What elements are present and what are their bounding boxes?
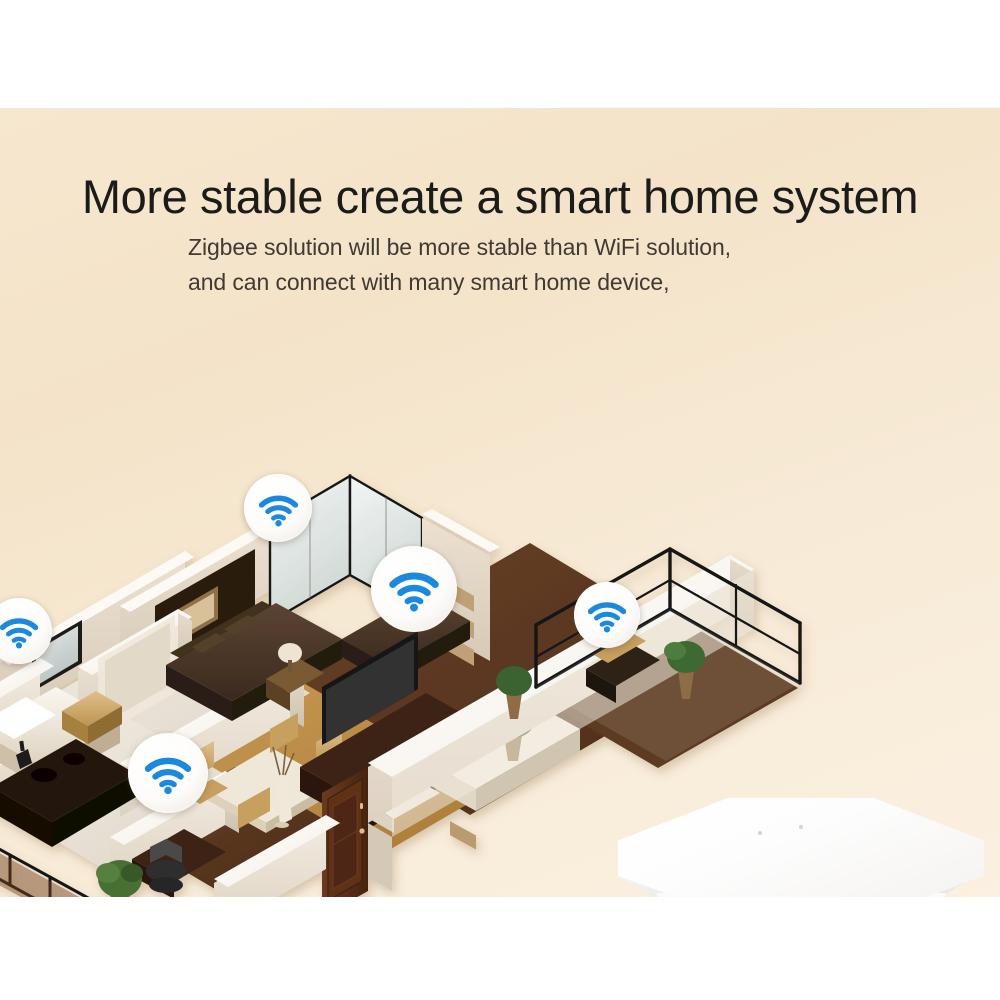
beige-banner-background: More stable create a smart home system Z… bbox=[0, 108, 1000, 897]
hub-top-face bbox=[618, 798, 984, 897]
product-banner-image: More stable create a smart home system Z… bbox=[0, 0, 1000, 1000]
page-title: More stable create a smart home system bbox=[0, 172, 1000, 221]
wifi-signal-icon-kitchen bbox=[128, 733, 208, 813]
wifi-signal-icon-balcony bbox=[574, 582, 640, 648]
zigbee-smart-gateway-hub: Zigbee Smart Gateway Hub bbox=[618, 798, 984, 897]
wifi-signal-icon-tv-area bbox=[371, 546, 457, 632]
subtitle-line-1: Zigbee solution will be more stable than… bbox=[188, 233, 731, 262]
status-led-icon bbox=[758, 831, 762, 835]
status-led-icon-2 bbox=[799, 825, 803, 829]
subtitle-line-2: and can connect with many smart home dev… bbox=[188, 268, 669, 297]
wifi-signal-icon-living-room bbox=[244, 474, 312, 542]
